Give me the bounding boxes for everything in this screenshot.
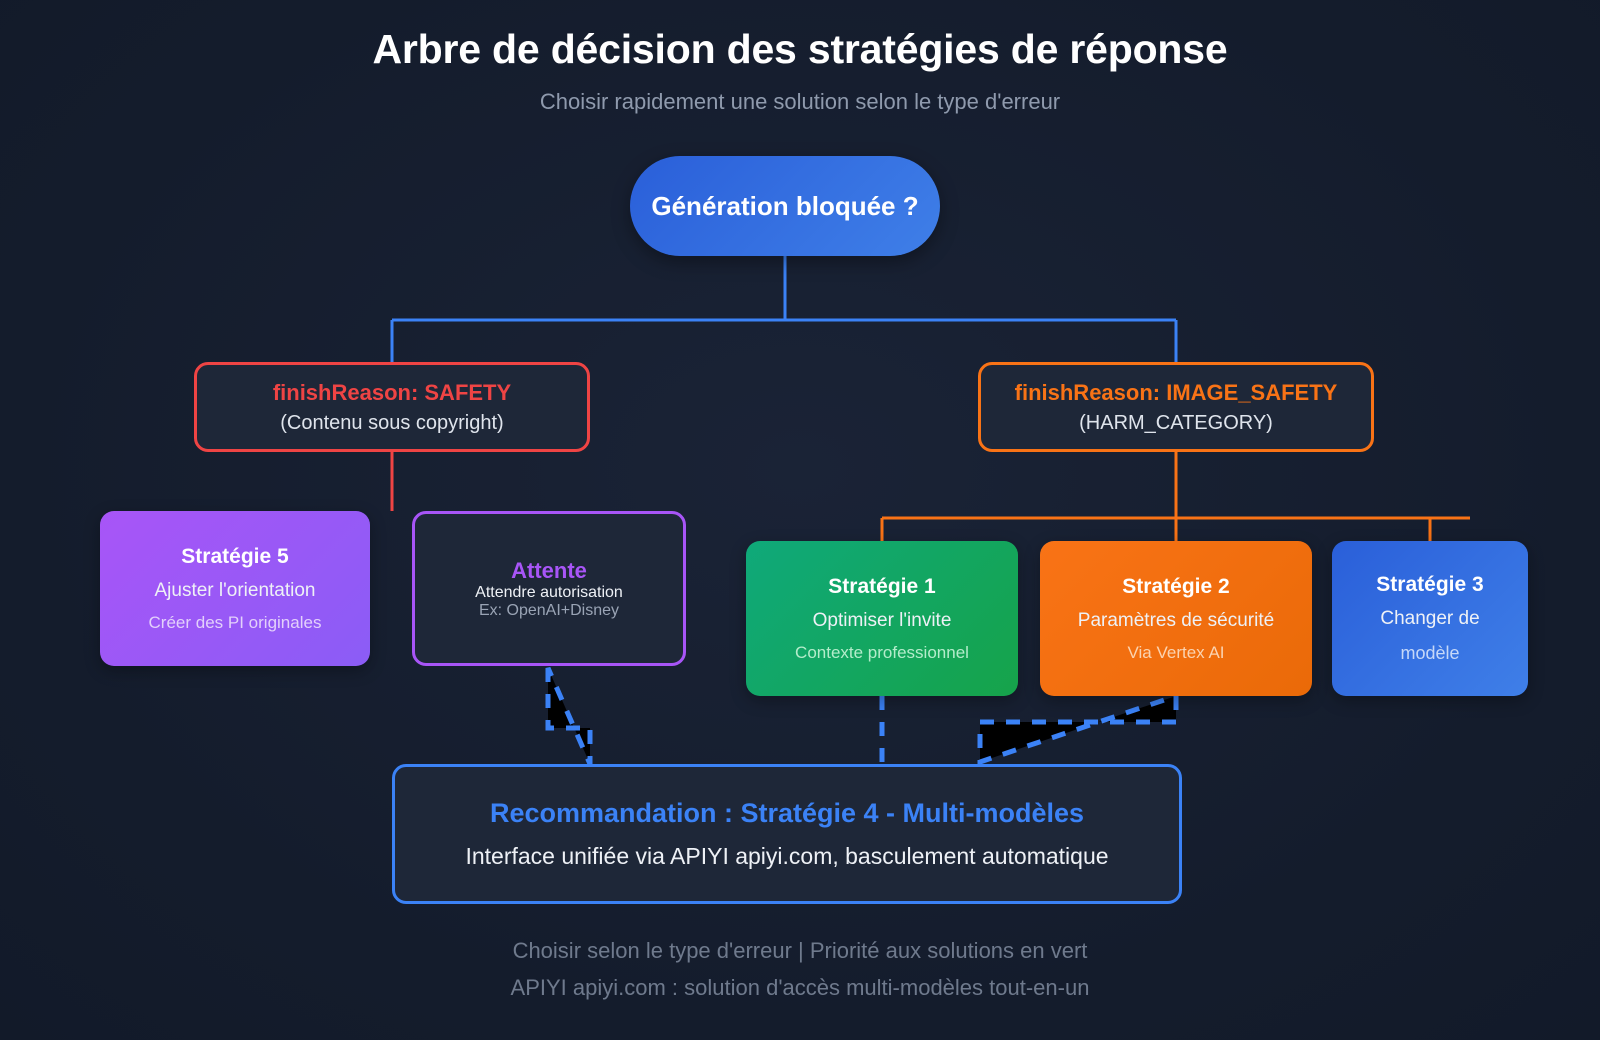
node-recommendation[interactable]: Recommandation : Stratégie 4 - Multi-mod…: [392, 764, 1182, 904]
connector-root-split: [392, 256, 1176, 362]
node-attente[interactable]: Attente Attendre autorisation Ex: OpenAI…: [412, 511, 686, 666]
recommendation-title: Recommandation : Stratégie 4 - Multi-mod…: [490, 798, 1084, 829]
strategy-1-action: Optimiser l'invite: [813, 610, 952, 632]
strategy-3-note: modèle: [1400, 643, 1459, 664]
node-strategy-3[interactable]: Stratégie 3 Changer de modèle: [1332, 541, 1528, 696]
strategy-1-note: Contexte professionnel: [795, 643, 969, 663]
node-strategy-2[interactable]: Stratégie 2 Paramètres de sécurité Via V…: [1040, 541, 1312, 696]
attente-action: Attendre autorisation: [475, 584, 623, 602]
node-image-safety-title: finishReason: IMAGE_SAFETY: [1015, 380, 1338, 406]
node-image-safety-detail: (HARM_CATEGORY): [1079, 412, 1273, 435]
recommendation-detail: Interface unifiée via APIYI apiyi.com, b…: [465, 843, 1108, 870]
strategy-3-action: Changer de: [1380, 608, 1479, 630]
page-subtitle: Choisir rapidement une solution selon le…: [0, 89, 1600, 115]
strategy-3-title: Stratégie 3: [1376, 573, 1483, 597]
connector-image-safety-children: [882, 452, 1470, 541]
strategy-2-action: Paramètres de sécurité: [1078, 610, 1274, 632]
page-title: Arbre de décision des stratégies de répo…: [0, 26, 1600, 73]
strategy-2-title: Stratégie 2: [1122, 575, 1229, 599]
node-finish-reason-safety[interactable]: finishReason: SAFETY (Contenu sous copyr…: [194, 362, 590, 452]
node-root-label: Génération bloquée ?: [651, 191, 918, 222]
connector-dashed-strategy2: [980, 696, 1176, 762]
strategy-5-note: Créer des PI originales: [149, 613, 322, 633]
node-strategy-1[interactable]: Stratégie 1 Optimiser l'invite Contexte …: [746, 541, 1018, 696]
attente-note: Ex: OpenAI+Disney: [479, 602, 619, 620]
strategy-5-title: Stratégie 5: [181, 545, 288, 569]
node-finish-reason-image-safety[interactable]: finishReason: IMAGE_SAFETY (HARM_CATEGOR…: [978, 362, 1374, 452]
footer-line-1: Choisir selon le type d'erreur | Priorit…: [0, 938, 1600, 964]
footer-line-2: APIYI apiyi.com : solution d'accès multi…: [0, 975, 1600, 1001]
diagram-canvas: Arbre de décision des stratégies de répo…: [0, 0, 1600, 1040]
node-safety-title: finishReason: SAFETY: [273, 380, 511, 406]
node-strategy-5[interactable]: Stratégie 5 Ajuster l'orientation Créer …: [100, 511, 370, 666]
strategy-1-title: Stratégie 1: [828, 575, 935, 599]
node-generation-blocked[interactable]: Génération bloquée ?: [630, 156, 940, 256]
attente-title: Attente: [511, 558, 587, 584]
strategy-2-note: Via Vertex AI: [1127, 643, 1224, 663]
node-safety-detail: (Contenu sous copyright): [280, 412, 503, 435]
strategy-5-action: Ajuster l'orientation: [155, 580, 316, 602]
connector-dashed-attente: [548, 668, 590, 764]
